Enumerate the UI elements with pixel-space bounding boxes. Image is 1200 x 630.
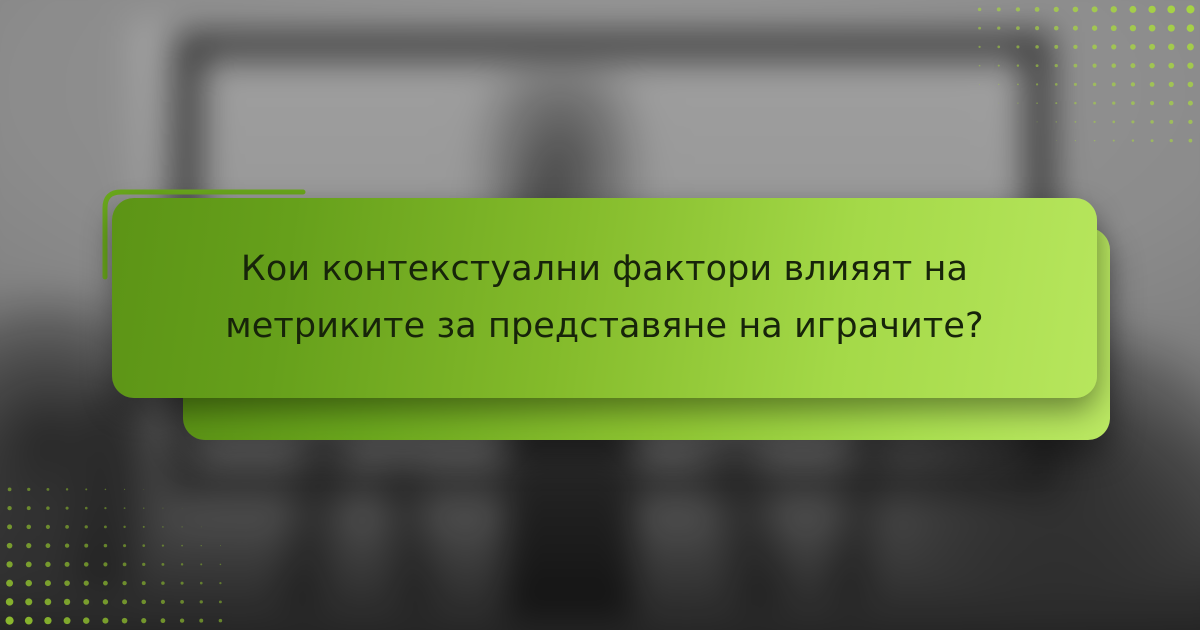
headline-line-2: метриките за представяне на играчите? xyxy=(225,306,983,346)
headline-card: Кои контекстуални фактори влияят на метр… xyxy=(112,198,1097,398)
page-title: Кои контекстуални фактори влияят на метр… xyxy=(112,241,1097,354)
headline-line-1: Кои контекстуални фактори влияят на xyxy=(241,249,968,289)
background-bottom-vignette xyxy=(0,410,1200,630)
share-card-canvas: Кои контекстуални фактори влияят на метр… xyxy=(0,0,1200,630)
